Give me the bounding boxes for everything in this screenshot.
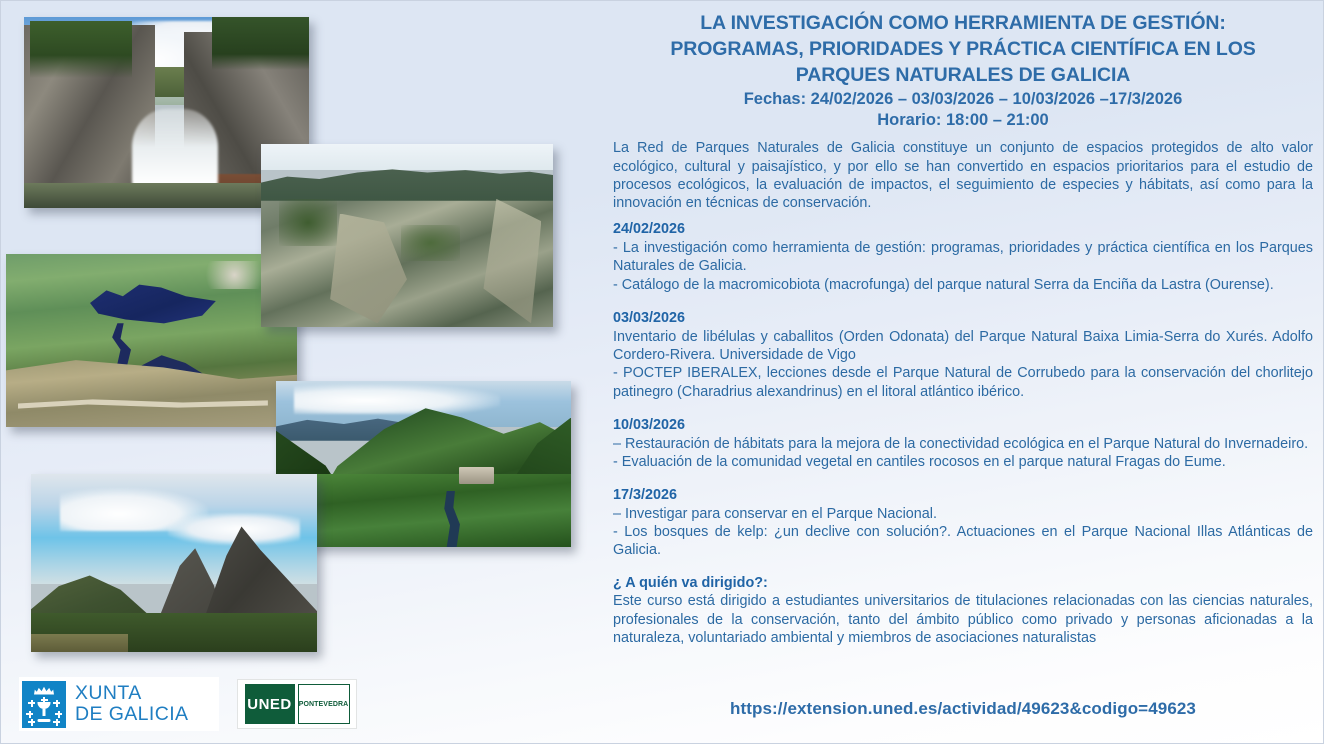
section-body: - La investigación como herramienta de g… xyxy=(613,239,1313,294)
section-line: – Restauración de hábitats para la mejor… xyxy=(613,435,1313,453)
title-line-3: PARQUES NATURALES DE GALICIA xyxy=(796,64,1131,86)
section-heading: 24/02/2026 xyxy=(613,220,1313,239)
section-line: - POCTEP IBERALEX, lecciones desde el Pa… xyxy=(613,364,1313,401)
wetland-lagoon-photo xyxy=(6,254,297,427)
section-17-03-2026: 17/3/2026 – Investigar para conservar en… xyxy=(613,486,1313,560)
uned-wordmark: UNED xyxy=(245,684,295,724)
section-body: Este curso está dirigido a estudiantes u… xyxy=(613,592,1313,647)
xunta-de-galicia-logo: XUNTA DE GALICIA xyxy=(19,677,219,731)
xunta-wordmark: XUNTA DE GALICIA xyxy=(75,683,188,724)
rocky-peaks-photo xyxy=(31,474,317,652)
section-line: – Investigar para conservar en el Parque… xyxy=(613,505,1313,523)
title-line-1: LA INVESTIGACIÓN COMO HERRAMIENTA DE GES… xyxy=(700,12,1226,34)
section-10-03-2026: 10/03/2026 – Restauración de hábitats pa… xyxy=(613,416,1313,471)
page-title: LA INVESTIGACIÓN COMO HERRAMIENTA DE GES… xyxy=(613,11,1313,89)
forest-valley-photo xyxy=(276,381,571,547)
intro-paragraph: La Red de Parques Naturales de Galicia c… xyxy=(613,139,1313,212)
limestone-ridge-photo xyxy=(261,144,553,327)
section-body: – Restauración de hábitats para la mejor… xyxy=(613,435,1313,472)
poster-root: LA INVESTIGACIÓN COMO HERRAMIENTA DE GES… xyxy=(0,0,1324,744)
section-line: - Evaluación de la comunidad vegetal en … xyxy=(613,453,1313,471)
section-heading: 10/03/2026 xyxy=(613,416,1313,435)
section-line: - La investigación como herramienta de g… xyxy=(613,239,1313,276)
xunta-wordmark-line-2: DE GALICIA xyxy=(75,704,188,725)
section-body: Inventario de libélulas y caballitos (Or… xyxy=(613,328,1313,401)
section-line: - Los bosques de kelp: ¿un declive con s… xyxy=(613,523,1313,560)
schedule-line: Horario: 18:00 – 21:00 xyxy=(613,110,1313,131)
dates-line: Fechas: 24/02/2026 – 03/03/2026 – 10/03/… xyxy=(613,89,1313,110)
registration-url[interactable]: https://extension.uned.es/actividad/4962… xyxy=(613,699,1313,719)
section-heading: ¿ A quién va dirigido?: xyxy=(613,574,1313,593)
content-column: LA INVESTIGACIÓN COMO HERRAMIENTA DE GES… xyxy=(613,11,1313,647)
section-body: – Investigar para conservar en el Parque… xyxy=(613,505,1313,560)
uned-campus-label: PONTEVEDRA xyxy=(298,684,350,724)
title-line-2: PROGRAMAS, PRIORIDADES Y PRÁCTICA CIENTÍ… xyxy=(670,38,1255,60)
section-audience: ¿ A quién va dirigido?: Este curso está … xyxy=(613,574,1313,648)
section-24-02-2026: 24/02/2026 - La investigación como herra… xyxy=(613,220,1313,294)
section-line: Inventario de libélulas y caballitos (Or… xyxy=(613,328,1313,365)
section-03-03-2026: 03/03/2026 Inventario de libélulas y cab… xyxy=(613,309,1313,401)
chalice-icon xyxy=(37,702,52,722)
xunta-coat-of-arms-icon xyxy=(22,681,66,728)
xunta-wordmark-line-1: XUNTA xyxy=(75,683,188,704)
section-heading: 17/3/2026 xyxy=(613,486,1313,505)
uned-pontevedra-logo: UNED PONTEVEDRA xyxy=(237,679,357,729)
crown-icon xyxy=(34,686,54,695)
section-line: - Catálogo de la macromicobiota (macrofu… xyxy=(613,276,1313,294)
section-line: Este curso está dirigido a estudiantes u… xyxy=(613,592,1313,647)
section-heading: 03/03/2026 xyxy=(613,309,1313,328)
